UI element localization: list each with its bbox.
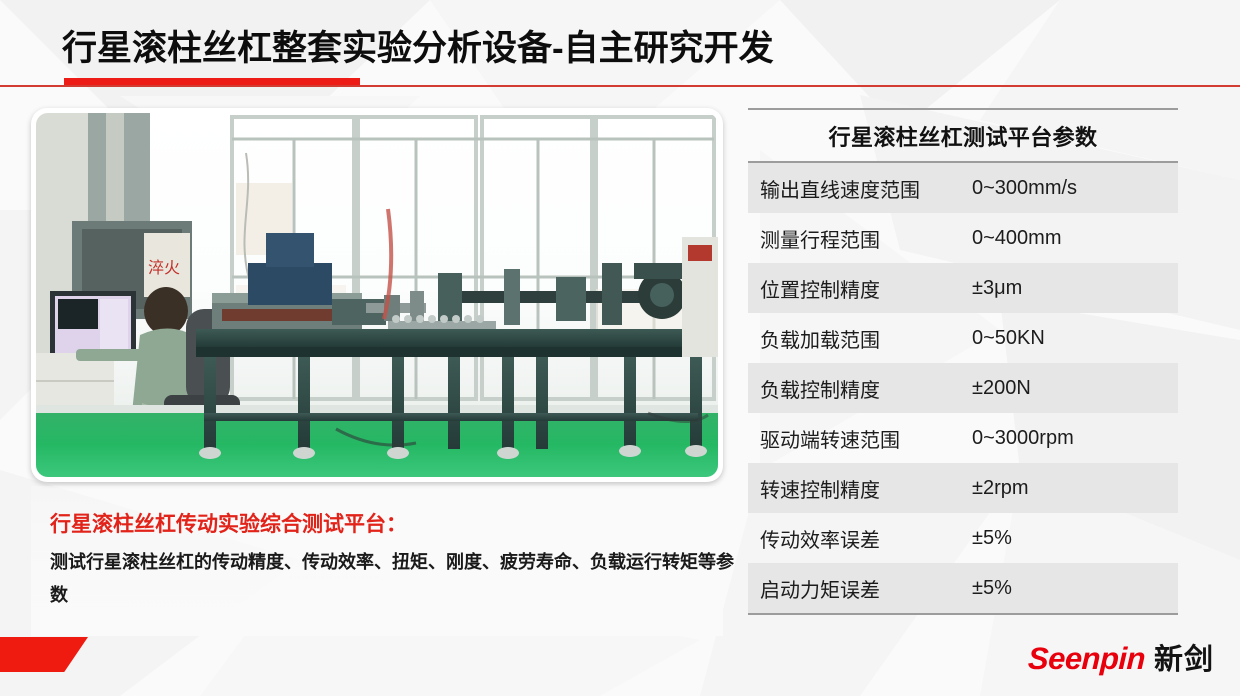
parameter-name: 输出直线速度范围 [748,174,972,203]
brand-logo: Seenpin 新剑 [1028,636,1214,678]
parameter-value: ±2rpm [972,477,1178,500]
parameter-name: 传动效率误差 [748,524,972,553]
parameter-name: 负载控制精度 [748,374,972,403]
title-block: 行星滚柱丝杠整套实验分析设备-自主研究开发 [62,26,774,72]
parameter-row: 负载加载范围0~50KN [748,313,1178,363]
parameter-table-body: 输出直线速度范围0~300mm/s测量行程范围0~400mm位置控制精度±3μm… [748,163,1178,613]
parameter-row: 负载控制精度±200N [748,363,1178,413]
parameter-name: 驱动端转速范围 [748,424,972,453]
parameter-row: 转速控制精度±2rpm [748,463,1178,513]
parameter-row: 驱动端转速范围0~3000rpm [748,413,1178,463]
parameter-value: ±5% [972,577,1178,600]
parameter-name: 转速控制精度 [748,474,972,503]
parameter-name: 启动力矩误差 [748,574,972,603]
parameter-row: 启动力矩误差±5% [748,563,1178,613]
caption-block: 行星滚柱丝杠传动实验综合测试平台： 测试行星滚柱丝杠的传动精度、传动效率、扭矩、… [50,510,740,612]
slide-canvas: 行星滚柱丝杠整套实验分析设备-自主研究开发 [0,0,1240,696]
parameter-value: ±5% [972,527,1178,550]
parameter-row: 位置控制精度±3μm [748,263,1178,313]
caption-body: 测试行星滚柱丝杠的传动精度、传动效率、扭矩、刚度、疲劳寿命、负载运行转矩等参数 [50,546,736,612]
parameter-table: 行星滚柱丝杠测试平台参数 输出直线速度范围0~300mm/s测量行程范围0~40… [748,108,1178,615]
parameter-row: 传动效率误差±5% [748,513,1178,563]
caption-heading: 行星滚柱丝杠传动实验综合测试平台： [50,510,740,540]
parameter-value: ±200N [972,377,1178,400]
parameter-name: 负载加载范围 [748,324,972,353]
parameter-row: 测量行程范围0~400mm [748,213,1178,263]
parameter-name: 测量行程范围 [748,224,972,253]
page-title: 行星滚柱丝杠整套实验分析设备-自主研究开发 [62,26,774,72]
svg-text:淬火: 淬火 [148,259,180,277]
photo-frame: 淬火 [31,108,723,482]
parameter-row: 输出直线速度范围0~300mm/s [748,163,1178,213]
parameter-table-header: 行星滚柱丝杠测试平台参数 [748,108,1178,163]
parameter-value: 0~300mm/s [972,177,1178,200]
parameter-value: 0~3000rpm [972,427,1178,450]
lab-equipment-photo: 淬火 [36,113,718,477]
brand-chinese-wordmark: 新剑 [1154,636,1214,678]
title-divider-rule [0,85,1240,87]
parameter-value: ±3μm [972,277,1178,300]
parameter-value: 0~50KN [972,327,1178,350]
parameter-name: 位置控制精度 [748,274,972,303]
parameter-value: 0~400mm [972,227,1178,250]
title-accent-bar [64,78,360,85]
table-bottom-rule [748,613,1178,615]
brand-latin-wordmark: Seenpin [1027,641,1145,677]
